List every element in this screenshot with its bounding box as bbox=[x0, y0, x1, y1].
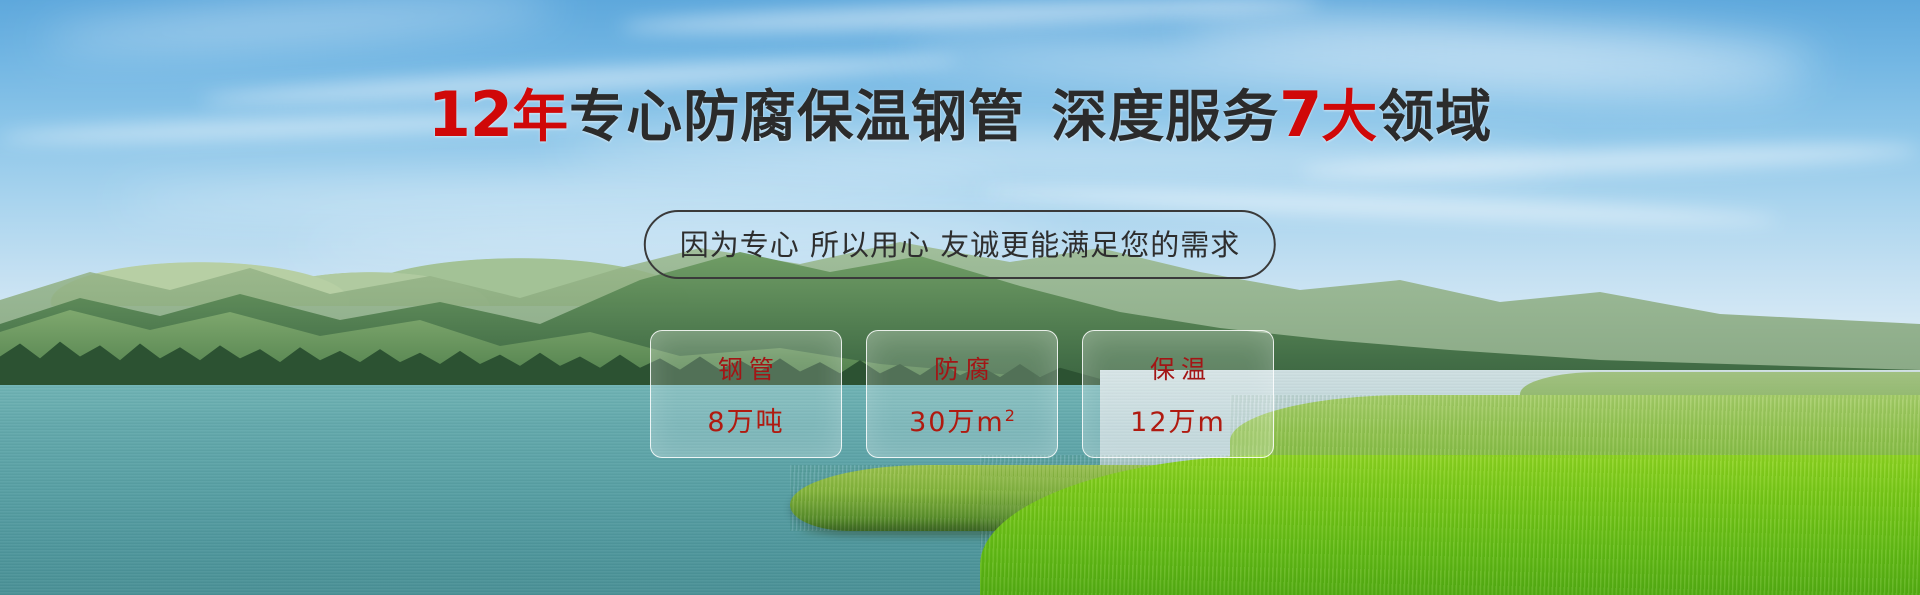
headline-fields-number: 7 bbox=[1279, 78, 1321, 151]
hero-banner: 12年专心防腐保温钢管深度服务7大领域 因为专心 所以用心 友诚更能满足您的需求… bbox=[0, 0, 1920, 595]
headline-years-suffix: 年 bbox=[512, 85, 569, 150]
stat-title: 防腐 bbox=[928, 350, 996, 386]
headline-years-number: 12 bbox=[428, 78, 512, 151]
stat-title: 保温 bbox=[1144, 350, 1212, 386]
stat-value: 30万m2 bbox=[909, 400, 1015, 439]
headline-tail-lead: 深度服务 bbox=[1051, 85, 1279, 150]
subtitle-pill: 因为专心 所以用心 友诚更能满足您的需求 bbox=[644, 210, 1276, 279]
stat-card-steel-pipe: 钢管 8万吨 bbox=[650, 330, 842, 458]
stat-card-anticorrosion: 防腐 30万m2 bbox=[866, 330, 1058, 458]
headline-tail-end: 领域 bbox=[1378, 85, 1492, 150]
page-title: 12年专心防腐保温钢管深度服务7大领域 bbox=[0, 84, 1920, 146]
headline-middle-text: 专心防腐保温钢管 bbox=[569, 85, 1025, 150]
headline-fields-accent: 大 bbox=[1321, 85, 1378, 150]
stat-unit-superscript: 2 bbox=[1005, 406, 1015, 425]
stat-card-group: 钢管 8万吨 防腐 30万m2 保温 12万m bbox=[650, 330, 1274, 458]
foreground-grass bbox=[980, 455, 1920, 595]
stat-value: 12万m bbox=[1130, 400, 1226, 439]
stat-value: 8万吨 bbox=[707, 400, 784, 439]
stat-title: 钢管 bbox=[712, 350, 780, 386]
stat-card-insulation: 保温 12万m bbox=[1082, 330, 1274, 458]
